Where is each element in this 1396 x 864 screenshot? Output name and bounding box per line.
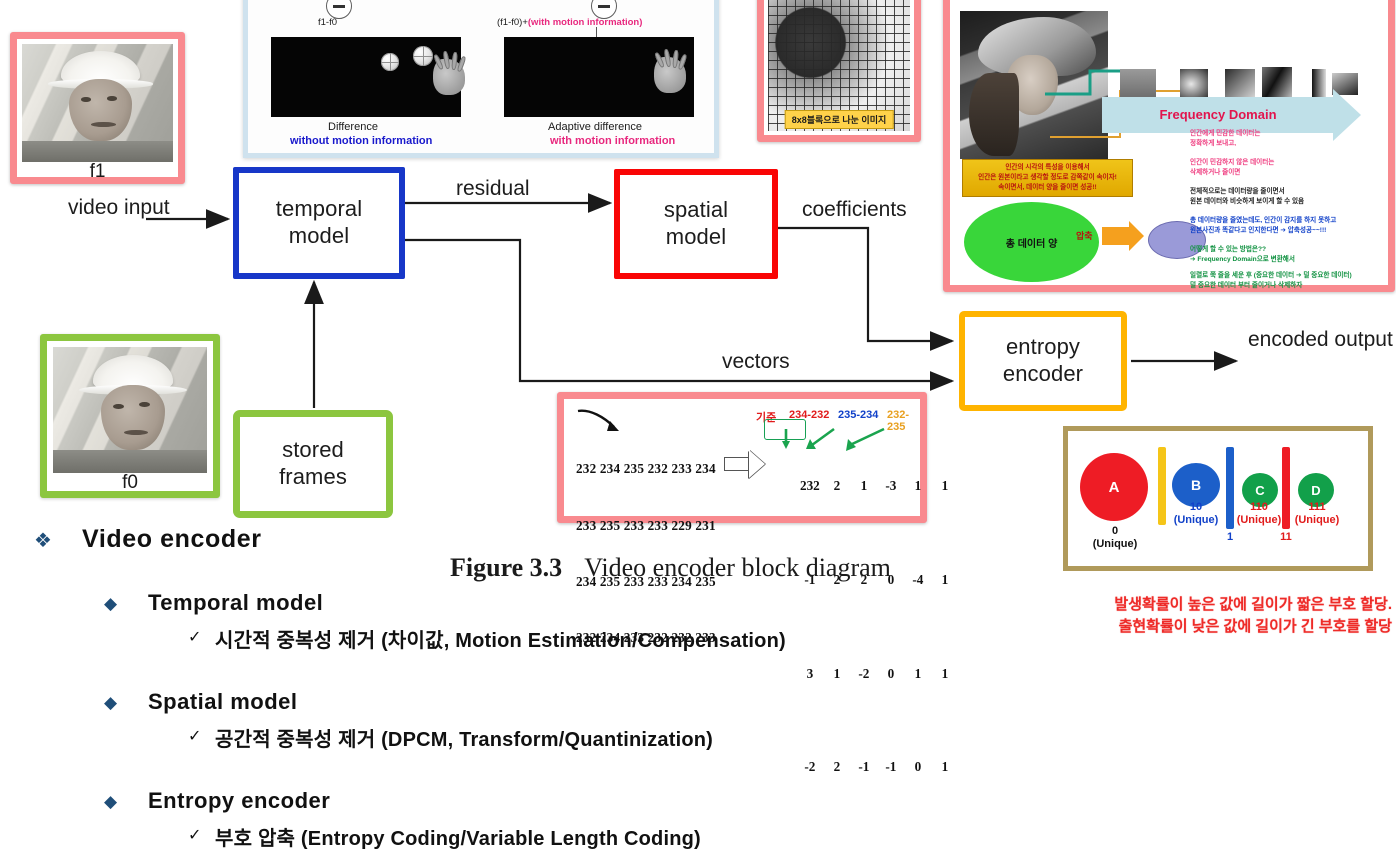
label-vectors: vectors bbox=[722, 350, 790, 374]
dpcm-cell: -2 bbox=[850, 665, 877, 684]
freq-note-2: 인간이 민감하지 않은 데이터는 삭제하거나 줄이면 bbox=[1190, 158, 1274, 178]
freq-note-5: 어떻게 할 수 있는 방법은?? ➔ Frequency Domain으로 변환… bbox=[1190, 245, 1295, 265]
huffman-code-a-value: 0 bbox=[1074, 525, 1156, 538]
difference-image-right bbox=[504, 37, 694, 117]
dpcm-cell: 3 bbox=[796, 665, 823, 684]
dpcm-cell: -3 bbox=[877, 477, 904, 496]
huffman-bar-label-1: 1 bbox=[1213, 531, 1247, 544]
compression-arrow: 압축 bbox=[1102, 227, 1130, 245]
video-input-line1: video bbox=[68, 196, 118, 219]
freq-tile-2 bbox=[1180, 69, 1208, 99]
huffman-footer-note: 발생확률이 높은 값에 길이가 짧은 부호 할당. 출현확률이 낮은 값에 길이… bbox=[962, 594, 1392, 638]
check-marker-spatial: ✓ bbox=[188, 726, 201, 746]
dpcm-cell: -1 bbox=[877, 758, 904, 777]
huffman-code-d-unique: (Unique) bbox=[1286, 514, 1348, 527]
frequency-domain-label: Frequency Domain bbox=[1102, 97, 1334, 133]
dpcm-output-row: 31-2011 bbox=[770, 646, 958, 702]
frequency-domain-panel: Frequency Domain 인간의 시각의 특성을 이용해서 인간은 원본… bbox=[943, 0, 1395, 292]
huffman-code-d-value: 111 bbox=[1286, 501, 1348, 514]
bullet-marker-entropy: ◆ bbox=[104, 792, 117, 812]
node-right-tick bbox=[596, 27, 597, 37]
dpcm-cell: 1 bbox=[931, 477, 958, 496]
minus-node-left-label: f1-f0 bbox=[318, 17, 337, 28]
frame-f1-label: f1 bbox=[22, 162, 173, 181]
bullet-detail-temporal-model: 시간적 중복성 제거 (차이값, Motion Estimation/Compe… bbox=[215, 624, 786, 653]
temporal-model-line2: model bbox=[289, 223, 349, 250]
encoded-output-line1: encoded bbox=[1248, 328, 1329, 351]
block-entropy-encoder[interactable]: entropy encoder bbox=[959, 311, 1127, 411]
compression-label: 압축 bbox=[1076, 229, 1093, 242]
ball-left bbox=[381, 53, 399, 71]
huffman-bar-label-2: 11 bbox=[1269, 531, 1303, 544]
figure-caption-text: Video encoder block diagram bbox=[584, 553, 891, 582]
node-right-plain: (f1-f0)+ bbox=[497, 17, 528, 28]
dpcm-cell: -4 bbox=[904, 571, 931, 590]
bullet-heading-temporal-model: Temporal model bbox=[148, 590, 323, 616]
video-input-line2: input bbox=[124, 196, 170, 219]
huffman-code-a: 0 (Unique) bbox=[1074, 525, 1156, 551]
bullet-marker-level1: ❖ bbox=[34, 528, 52, 553]
ball-right bbox=[413, 46, 433, 66]
huffman-node-c-letter: C bbox=[1255, 483, 1264, 498]
dpcm-cell: 2 bbox=[823, 758, 850, 777]
frame-f1-image bbox=[22, 44, 173, 162]
dpcm-transform-arrow bbox=[724, 457, 749, 471]
freq-tile-1 bbox=[1120, 69, 1156, 99]
dpcm-output-row: 23221-311 bbox=[770, 458, 958, 514]
figure-caption-label: Figure 3.3 bbox=[450, 553, 562, 582]
huffman-code-d: 111 (Unique) bbox=[1286, 501, 1348, 527]
dpcm-cell: 1 bbox=[904, 477, 931, 496]
frame-f0-image bbox=[53, 347, 207, 473]
dpcm-cell: -2 bbox=[796, 758, 823, 777]
difference-right-caption2: with motion information bbox=[550, 135, 675, 147]
bullet-heading-entropy-encoder: Entropy encoder bbox=[148, 788, 330, 814]
huffman-code-b: 10 (Unique) bbox=[1164, 501, 1228, 527]
huffman-code-c-unique: (Unique) bbox=[1228, 514, 1290, 527]
huffman-node-a: A bbox=[1080, 453, 1148, 521]
spatial-model-line2: model bbox=[666, 224, 726, 251]
temporal-model-line1: temporal bbox=[276, 196, 362, 223]
dpcm-cell: 0 bbox=[877, 665, 904, 684]
bullet-title-video-encoder: Video encoder bbox=[82, 525, 262, 554]
huffman-code-c: 110 (Unique) bbox=[1228, 501, 1290, 527]
dpcm-cell: -1 bbox=[850, 758, 877, 777]
frame-f0-panel: f0 bbox=[40, 334, 220, 498]
dpcm-cell: 1 bbox=[931, 758, 958, 777]
huffman-node-d-letter: D bbox=[1311, 483, 1320, 498]
entropy-encoder-line1: entropy bbox=[1006, 334, 1080, 361]
entropy-encoder-line2: encoder bbox=[1003, 361, 1083, 388]
bullet-detail-entropy-encoder: 부호 압축 (Entropy Coding/Variable Length Co… bbox=[215, 822, 701, 851]
label-video-input: video input bbox=[68, 195, 170, 221]
dpcm-cell: 1 bbox=[931, 571, 958, 590]
spatial-model-line1: spatial bbox=[664, 197, 728, 224]
dpcm-input-row: 232 234 235 232 233 234 bbox=[576, 460, 716, 479]
bullet-marker-temporal: ◆ bbox=[104, 594, 117, 614]
dpcm-panel: 기준 234-232 235-234 232-235 232 234 235 2… bbox=[557, 392, 927, 523]
huffman-node-b-letter: B bbox=[1191, 477, 1201, 493]
total-data-ellipse: 총 데이터 양 bbox=[964, 202, 1099, 282]
freq-note-4: 총 데이터량을 줄였는데도, 인간이 감지를 하지 못하고 원본사진과 똑같다고… bbox=[1190, 216, 1336, 236]
frame-f1-panel: f1 bbox=[10, 32, 185, 184]
minus-node-right-label: (f1-f0)+(with motion information) bbox=[497, 17, 642, 28]
motion-difference-panel: f1-f0 (f1-f0)+(with motion information) bbox=[243, 0, 719, 158]
dpcm-output-row: -22-1-101 bbox=[770, 739, 958, 795]
block-division-panel: 8x8블록으로 나눈 이미지 bbox=[757, 0, 921, 142]
block-division-caption: 8x8블록으로 나눈 이미지 bbox=[785, 110, 894, 129]
dpcm-cell: 2 bbox=[823, 477, 850, 496]
dpcm-cell: 1 bbox=[823, 665, 850, 684]
node-right-pink: (with motion information) bbox=[528, 17, 643, 28]
huffman-code-c-value: 110 bbox=[1228, 501, 1290, 514]
label-encoded-output: encoded output bbox=[1248, 327, 1393, 353]
block-temporal-model[interactable]: temporal model bbox=[233, 167, 405, 279]
glove-right-image bbox=[654, 57, 686, 93]
figure-caption: Figure 3.3Video encoder block diagram bbox=[450, 553, 891, 583]
total-data-label: 총 데이터 양 bbox=[1006, 235, 1058, 250]
freq-tile-4 bbox=[1262, 67, 1292, 97]
dpcm-cell: 1 bbox=[931, 665, 958, 684]
dpcm-output-matrix: 23221-311 -1220-41 31-2011 -22-1-101 bbox=[770, 421, 958, 833]
check-marker-entropy: ✓ bbox=[188, 825, 201, 845]
block-stored-frames[interactable]: stored frames bbox=[233, 410, 393, 518]
huffman-code-b-value: 10 bbox=[1164, 501, 1228, 514]
dpcm-cell: 232 bbox=[796, 477, 823, 496]
dpcm-cell: 1 bbox=[850, 477, 877, 496]
stored-frames-line2: frames bbox=[279, 464, 347, 491]
stored-frames-line1: stored bbox=[282, 437, 344, 464]
freq-note-6: 일렬로 쭉 줄을 세운 후 (중요한 데이터 ➔ 덜 중요한 데이터) 덜 중요… bbox=[1190, 271, 1352, 291]
label-residual: residual bbox=[456, 177, 530, 201]
bullet-heading-spatial-model: Spatial model bbox=[148, 689, 298, 715]
freq-note-3: 전체적으로는 데이터량을 줄이면서 원본 데이터와 비슷하게 보이게 할 수 있… bbox=[1190, 187, 1304, 207]
visual-perception-note: 인간의 시각의 특성을 이용해서 인간은 원본이라고 생각할 정도로 감쪽같이 … bbox=[962, 159, 1133, 197]
difference-image-left bbox=[271, 37, 461, 117]
huffman-node-a-letter: A bbox=[1109, 479, 1120, 496]
dpcm-cell: 0 bbox=[904, 758, 931, 777]
glove-left-image bbox=[433, 59, 465, 95]
dpcm-header-diff2: 235-234 bbox=[838, 409, 878, 421]
bullet-detail-spatial-model: 공간적 중복성 제거 (DPCM, Transform/Quantinizati… bbox=[215, 723, 713, 752]
label-coefficients: coefficients bbox=[802, 198, 907, 222]
block-spatial-model[interactable]: spatial model bbox=[614, 169, 778, 279]
huffman-code-a-unique: (Unique) bbox=[1074, 538, 1156, 551]
bullet-marker-spatial: ◆ bbox=[104, 693, 117, 713]
dpcm-input-row: 233 235 233 233 229 231 bbox=[576, 517, 716, 536]
huffman-code-b-unique: (Unique) bbox=[1164, 514, 1228, 527]
encoded-output-line2: output bbox=[1334, 328, 1392, 351]
difference-left-caption1: Difference bbox=[328, 121, 378, 133]
difference-left-caption2: without motion information bbox=[290, 135, 432, 147]
huffman-code-panel: A B C D 0 (Unique) 10 (Unique) 110 (Uniq… bbox=[1063, 426, 1373, 571]
freq-tile-3 bbox=[1225, 69, 1255, 99]
freq-tile-5 bbox=[1312, 69, 1326, 99]
dpcm-cell: 1 bbox=[904, 665, 931, 684]
frame-f0-label: f0 bbox=[53, 473, 207, 492]
check-marker-temporal: ✓ bbox=[188, 627, 201, 647]
difference-right-caption1: Adaptive difference bbox=[548, 121, 642, 133]
frequency-domain-band: Frequency Domain bbox=[1102, 97, 1334, 133]
